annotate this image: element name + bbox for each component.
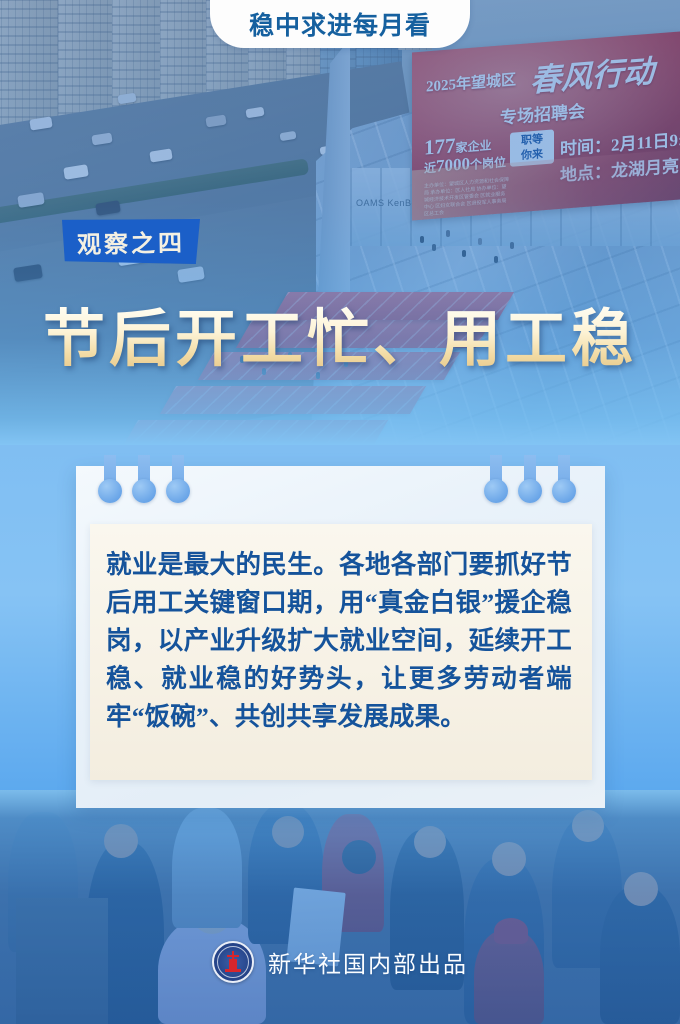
pin-decoration bbox=[172, 455, 184, 485]
xinhua-logo-icon bbox=[212, 941, 254, 983]
footer-credit: 新华社国内部出品 bbox=[0, 938, 680, 986]
poster-root: OAMS KenBee 肯蜜 2025年望城区 春风行动 专场招聘会 177家企… bbox=[0, 0, 680, 1024]
poster-title-text: 节后开工忙、用工稳 bbox=[43, 306, 637, 374]
quote-card: 就业是最大的民生。各地各部门要抓好节后用工关键窗口期，用“真金白银”援企稳岗，以… bbox=[90, 524, 592, 780]
observation-ribbon: 观察之四 bbox=[62, 219, 200, 264]
pin-decoration bbox=[138, 455, 150, 485]
quote-card-body: 就业是最大的民生。各地各部门要抓好节后用工关键窗口期，用“真金白银”援企稳岗，以… bbox=[106, 546, 572, 736]
footer-photo-crowd bbox=[0, 790, 680, 1024]
footer-photo-blue-tint bbox=[0, 790, 680, 1024]
ribbon-label: 观察之四 bbox=[62, 218, 201, 265]
pin-decoration bbox=[558, 455, 570, 485]
pin-head-icon bbox=[484, 479, 508, 503]
logo-base bbox=[225, 969, 241, 972]
pin-head-icon bbox=[518, 479, 542, 503]
pin-decoration bbox=[524, 455, 536, 485]
pin-decoration bbox=[104, 455, 116, 485]
pin-decoration bbox=[490, 455, 502, 485]
logo-tower-glyph bbox=[225, 951, 241, 973]
decorative-pin-row bbox=[0, 455, 680, 507]
pin-head-icon bbox=[132, 479, 156, 503]
poster-title: 节后开工忙、用工稳 bbox=[0, 288, 680, 378]
pin-head-icon bbox=[166, 479, 190, 503]
series-badge-label: 稳中求进每月看 bbox=[249, 6, 431, 42]
series-badge[interactable]: 稳中求进每月看 bbox=[210, 0, 470, 48]
pin-head-icon bbox=[552, 479, 576, 503]
pin-head-icon bbox=[98, 479, 122, 503]
footer-credit-label: 新华社国内部出品 bbox=[268, 945, 468, 979]
logo-crossbar bbox=[227, 955, 239, 957]
